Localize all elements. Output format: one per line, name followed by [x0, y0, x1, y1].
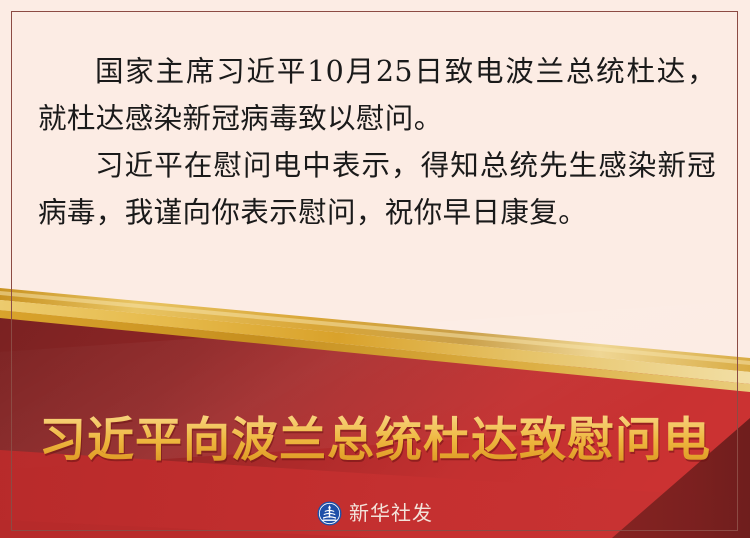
news-poster: 国家主席习近平10月25日致电波兰总统杜达，就杜达感染新冠病毒致以慰问。 习近平…	[0, 0, 750, 538]
poster-headline: 习近平向波兰总统杜达致慰问电	[0, 404, 750, 466]
article-text: 国家主席习近平10月25日致电波兰总统杜达，就杜达感染新冠病毒致以慰问。 习近平…	[38, 48, 716, 236]
xinhua-news-agency-logo-icon	[317, 501, 342, 526]
credit-text: 新华社发	[349, 503, 433, 523]
article-paragraph-2: 习近平在慰问电中表示，得知总统先生感染新冠病毒，我谨向你表示慰问，祝你早日康复。	[38, 142, 716, 236]
credit-line: 新华社发	[0, 496, 750, 530]
article-paragraph-1: 国家主席习近平10月25日致电波兰总统杜达，就杜达感染新冠病毒致以慰问。	[38, 48, 716, 142]
